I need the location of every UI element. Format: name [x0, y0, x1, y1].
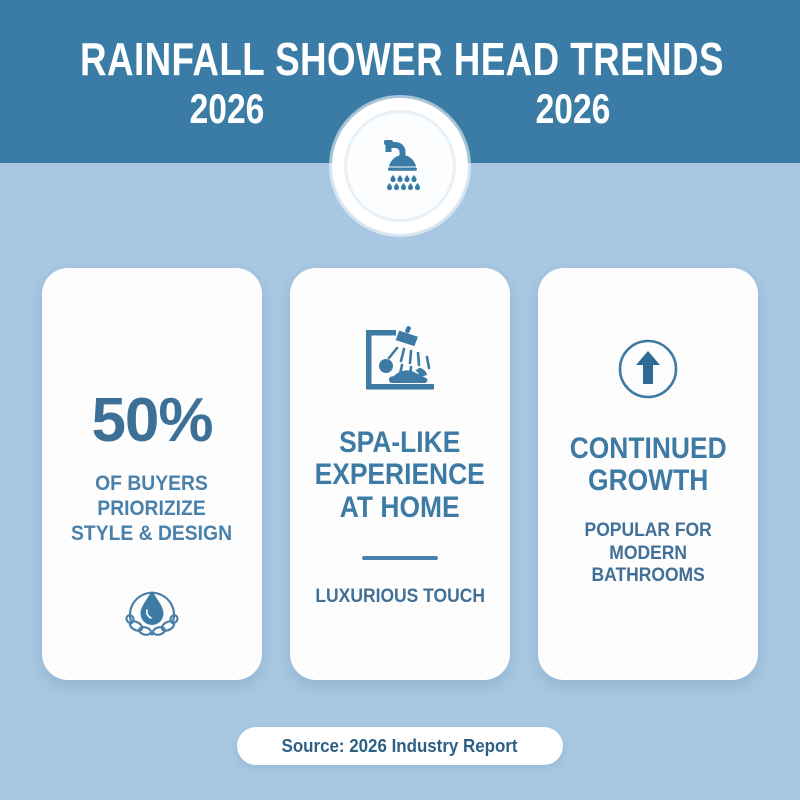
header-year-left: 2026: [163, 88, 291, 130]
source-pill: Source: 2026 Industry Report: [237, 727, 563, 765]
card-3-heading-line-1: CONTINUED: [570, 433, 727, 465]
shower-badge-inner: [344, 110, 456, 222]
card-2-heading-line-3: AT HOME: [315, 492, 485, 524]
cards-row: 50% OF BUYERS PRIORIZIZE STYLE & DESIGN: [42, 268, 758, 680]
card-style-design[interactable]: 50% OF BUYERS PRIORIZIZE STYLE & DESIGN: [42, 268, 262, 680]
card-3-heading: CONTINUED GROWTH: [570, 433, 727, 498]
card-2-icon-wrap: [356, 324, 444, 401]
card-2-heading-line-2: EXPERIENCE: [315, 459, 485, 491]
card-continued-growth[interactable]: CONTINUED GROWTH POPULAR FOR MODERN BATH…: [538, 268, 758, 680]
card-spa-experience[interactable]: SPA-LIKE EXPERIENCE AT HOME LUXURIOUS TO…: [290, 268, 510, 680]
shower-badge: [332, 98, 468, 234]
card-3-sub: POPULAR FOR MODERN BATHROOMS: [584, 520, 711, 588]
card-2-divider: [362, 556, 438, 560]
shower-head-icon: [364, 128, 436, 205]
infographic-canvas: RAINFALL SHOWER HEAD TRENDS 2026 2026: [0, 0, 800, 800]
page-title: RAINFALL SHOWER HEAD TRENDS: [80, 36, 720, 82]
card-1-line-2: PRIORIZIZE: [71, 497, 232, 522]
card-1-line-1: OF BUYERS: [71, 472, 232, 497]
header-year-right: 2026: [509, 88, 637, 130]
stat-percentage: 50%: [91, 390, 212, 452]
card-3-sub-line-1: POPULAR FOR: [584, 520, 711, 543]
card-3-icon-wrap: [617, 338, 679, 405]
card-2-sub: LUXURIOUS TOUCH: [315, 586, 485, 609]
card-2-sub-line-1: LUXURIOUS TOUCH: [315, 586, 485, 609]
card-1-line-3: STYLE & DESIGN: [71, 522, 232, 547]
card-1-text: OF BUYERS PRIORIZIZE STYLE & DESIGN: [71, 472, 232, 546]
card-3-sub-line-2: MODERN: [584, 543, 711, 566]
source-text: Source: 2026 Industry Report: [282, 736, 518, 757]
up-arrow-circle-icon: [617, 338, 679, 405]
card-2-heading-line-1: SPA-LIKE: [315, 427, 485, 459]
card-3-sub-line-3: BATHROOMS: [584, 565, 711, 588]
card-2-heading: SPA-LIKE EXPERIENCE AT HOME: [315, 427, 485, 524]
person-showering-icon: [356, 324, 444, 401]
card-1-icon-wrap: [115, 574, 189, 653]
water-droplet-wreath-icon: [115, 574, 189, 653]
card-3-heading-line-2: GROWTH: [570, 465, 727, 497]
